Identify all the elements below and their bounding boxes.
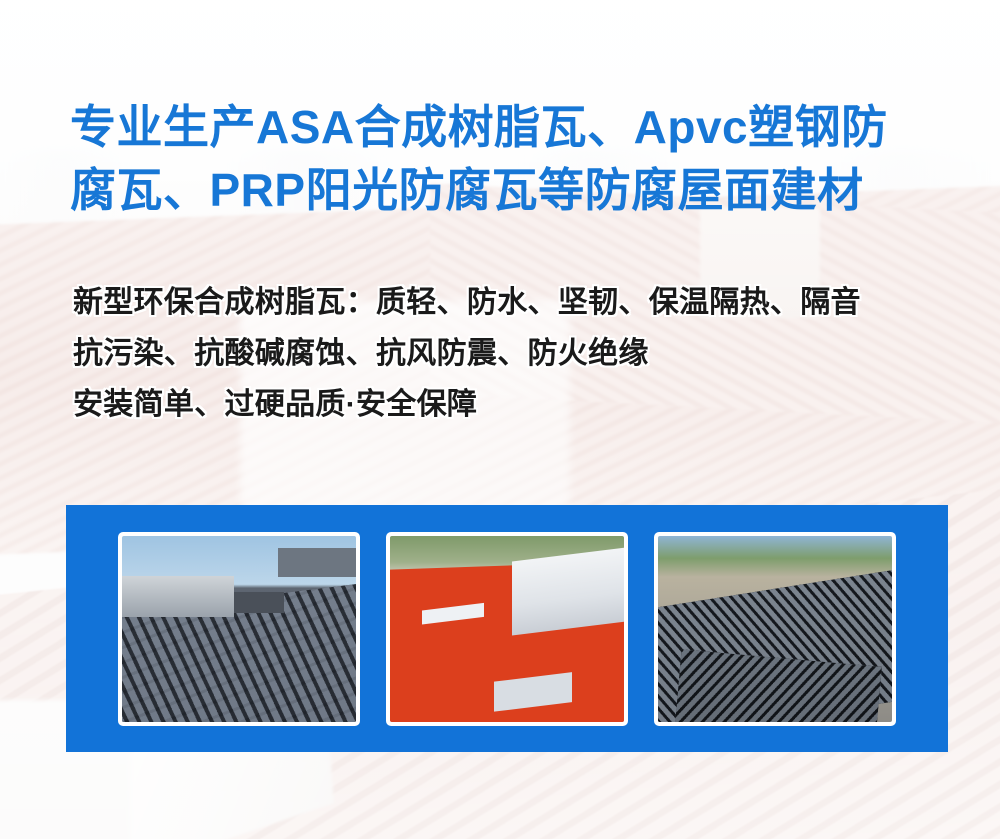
headline: 专业生产ASA合成树脂瓦、Apvc塑钢防 腐瓦、PRP阳光防腐瓦等防腐屋面建材: [70, 96, 970, 222]
photo-frame-3[interactable]: [654, 532, 896, 726]
dark-resin-tile-roof-wide-photo: [658, 536, 892, 722]
feature-list: 新型环保合成树脂瓦：质轻、防水、坚韧、保温隔热、隔音 抗污染、抗酸碱腐蚀、抗风防…: [73, 277, 973, 430]
feature-line-2: 抗污染、抗酸碱腐蚀、抗风防震、防火绝缘: [73, 328, 973, 379]
red-resin-tile-roof-buildings-photo: [390, 536, 624, 722]
headline-line-1: 专业生产ASA合成树脂瓦、Apvc塑钢防: [70, 96, 970, 159]
photo-frame-1[interactable]: [118, 532, 360, 726]
feature-line-1: 新型环保合成树脂瓦：质轻、防水、坚韧、保温隔热、隔音: [73, 277, 973, 328]
feature-line-3: 安装简单、过硬品质·安全保障: [73, 379, 973, 430]
grey-resin-tile-roof-closeup-photo: [122, 536, 356, 722]
product-promo-banner: 专业生产ASA合成树脂瓦、Apvc塑钢防 腐瓦、PRP阳光防腐瓦等防腐屋面建材 …: [0, 0, 1000, 839]
headline-line-2: 腐瓦、PRP阳光防腐瓦等防腐屋面建材: [70, 159, 970, 222]
photo-frame-2[interactable]: [386, 532, 628, 726]
photo-gallery-panel: [66, 505, 948, 752]
